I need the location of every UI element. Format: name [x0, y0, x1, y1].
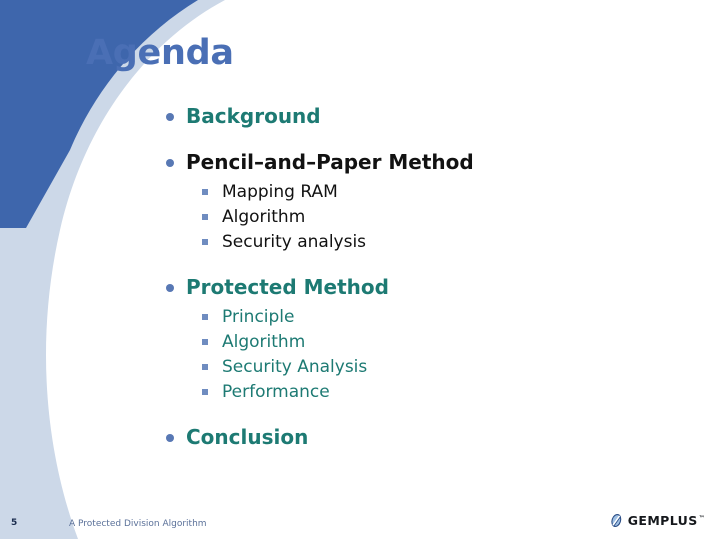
outline-subitem-security-analysis[interactable]: Security analysis [164, 230, 684, 255]
bullet-square-icon [202, 214, 208, 220]
spacer [164, 405, 684, 425]
bullet-square-icon [202, 189, 208, 195]
bullet-dot-icon [166, 113, 174, 121]
outline-subitem-performance[interactable]: Performance [164, 380, 684, 405]
bullet-dot-icon [166, 284, 174, 292]
footer-title: A Protected Division Algorithm [69, 519, 207, 529]
outline-subitem-label: Algorithm [222, 207, 305, 227]
trademark-symbol: ™ [699, 515, 705, 522]
outline-subitem-label: Mapping RAM [222, 182, 338, 202]
outline-subitem-label: Algorithm [222, 332, 305, 352]
outline-subitem-algorithm[interactable]: Algorithm [164, 330, 684, 355]
outline-subitem-label: Performance [222, 382, 330, 402]
outline-subitem-label: Principle [222, 307, 294, 327]
outline-item-label: Background [186, 104, 321, 128]
spacer [164, 255, 684, 275]
outline-subitem-algorithm[interactable]: Algorithm [164, 205, 684, 230]
outline-item-protected-method[interactable]: Protected Method [164, 275, 684, 299]
bullet-square-icon [202, 389, 208, 395]
bullet-square-icon [202, 339, 208, 345]
outline-item-background[interactable]: Background [164, 104, 684, 128]
outline-subitem-security-analysis[interactable]: Security Analysis [164, 355, 684, 380]
outline-item-label: Pencil–and–Paper Method [186, 150, 474, 174]
outline-subitem-label: Security analysis [222, 232, 366, 252]
bullet-dot-icon [166, 159, 174, 167]
spacer [164, 128, 684, 150]
bullet-square-icon [202, 239, 208, 245]
bullet-square-icon [202, 364, 208, 370]
outline-subitem-label: Security Analysis [222, 357, 367, 377]
outline-item-label: Conclusion [186, 425, 308, 449]
outline-item-pencil-and-paper-method[interactable]: Pencil–and–Paper Method [164, 150, 684, 174]
outline-item-conclusion[interactable]: Conclusion [164, 425, 684, 449]
agenda-outline: Background Pencil–and–Paper Method Mappi… [164, 104, 684, 449]
page-title: Agenda [86, 36, 234, 71]
gemplus-swirl-icon [610, 513, 623, 528]
outline-subitem-principle[interactable]: Principle [164, 305, 684, 330]
bullet-square-icon [202, 314, 208, 320]
gemplus-wordmark: GEMPLUS™ [628, 513, 705, 528]
bullet-dot-icon [166, 434, 174, 442]
page-number: 5 [11, 518, 17, 528]
pale-blue-under-wedge [0, 160, 72, 300]
outline-item-label: Protected Method [186, 275, 389, 299]
outline-subitem-mapping-ram[interactable]: Mapping RAM [164, 180, 684, 205]
gemplus-logo: GEMPLUS™ [610, 513, 705, 528]
slide: Agenda Background Pencil–and–Paper Metho… [0, 0, 719, 539]
